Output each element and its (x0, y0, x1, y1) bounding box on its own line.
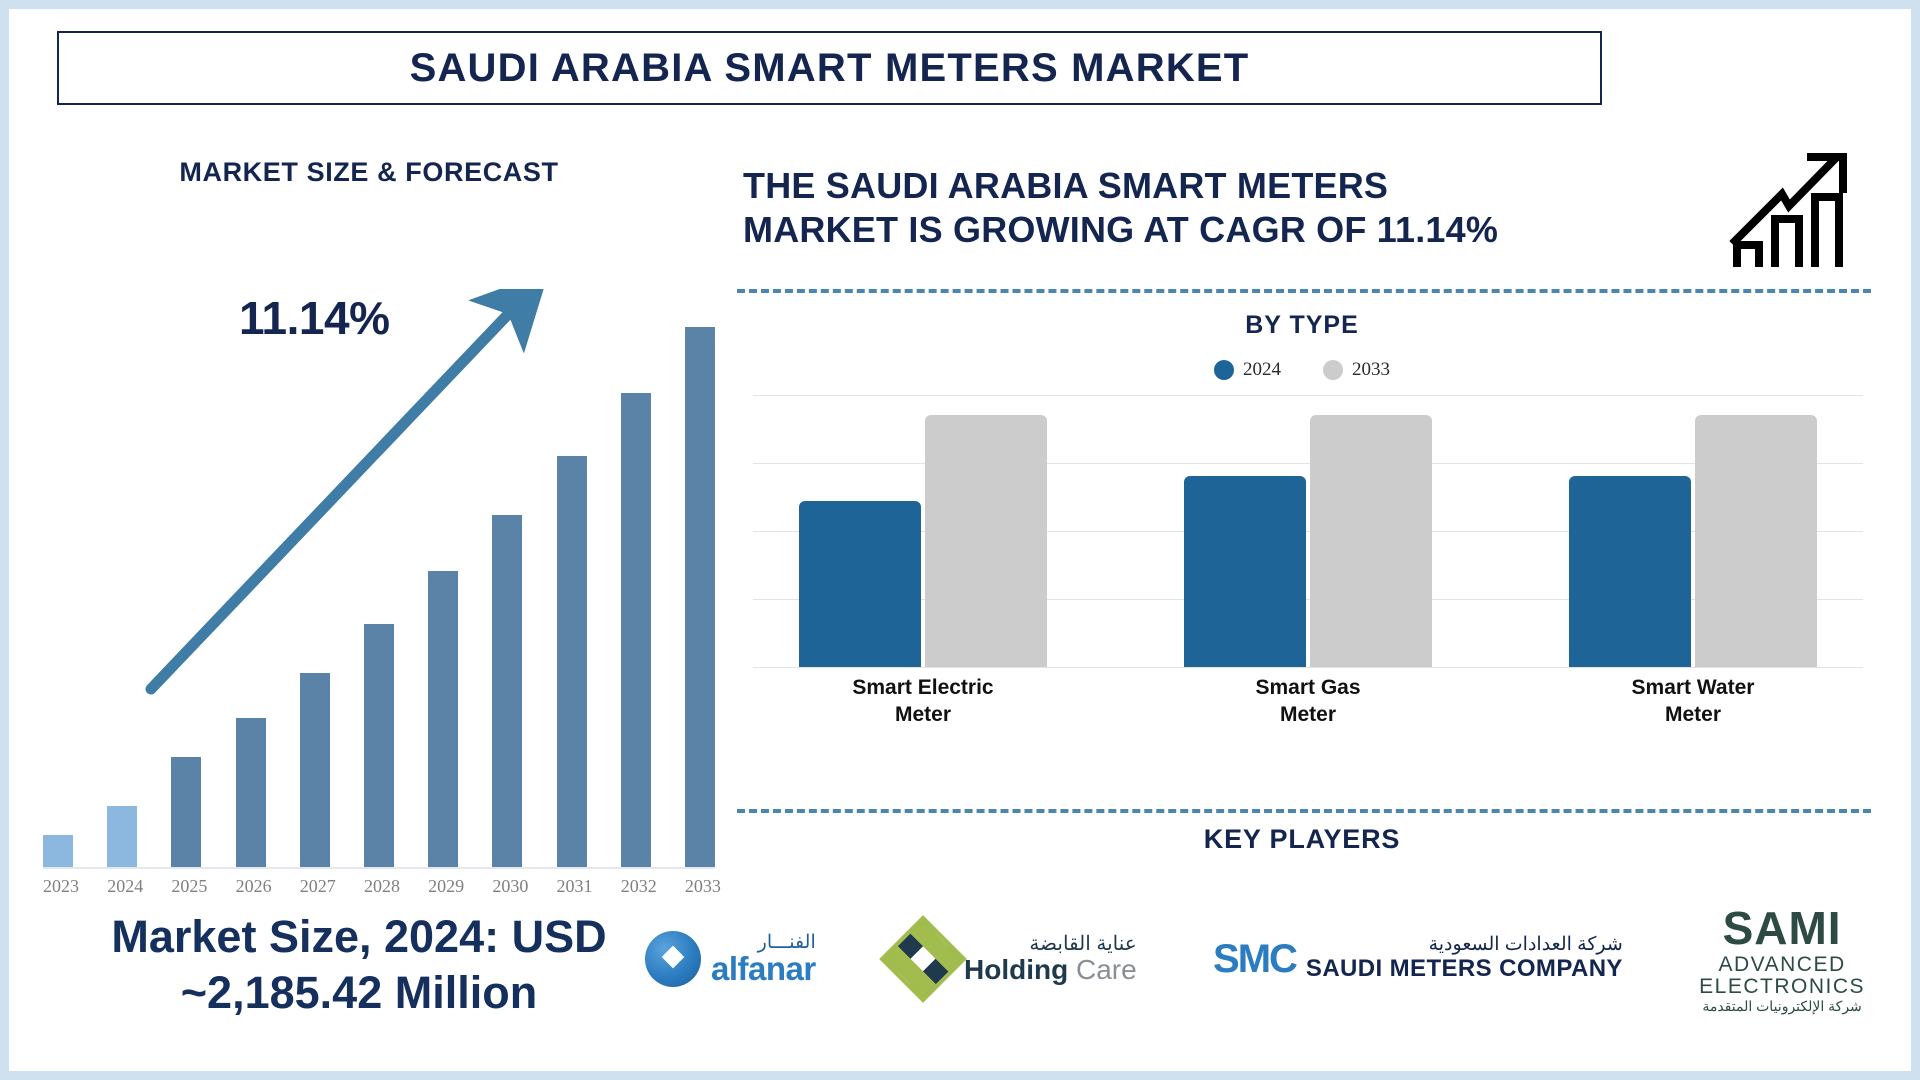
by-type-bar-2033 (1695, 415, 1817, 667)
legend-label: 2024 (1243, 359, 1281, 381)
alfanar-logo-icon (645, 931, 701, 987)
legend-label: 2033 (1352, 359, 1390, 381)
holding-care-arabic: عناية القابضة (964, 934, 1137, 955)
page-title: SAUDI ARABIA SMART METERS MARKET (410, 46, 1250, 91)
category-label-line2: Meter (1138, 702, 1478, 729)
by-type-legend: 20242033 (735, 359, 1869, 381)
market-size-year-label: 2029 (428, 876, 458, 897)
market-size-year-axis: 2023202420252026202720282029203020312032… (43, 876, 715, 897)
sami-logo-icon: SAMI (1699, 904, 1865, 954)
market-size-heading: MARKET SIZE & FORECAST (9, 157, 729, 188)
growth-headline: THE SAUDI ARABIA SMART METERS MARKET IS … (743, 164, 1683, 252)
smc-logo-icon: SMC (1213, 937, 1296, 982)
market-size-bar (236, 718, 266, 868)
holding-care-latin-bold: Holding (964, 954, 1068, 985)
market-size-bar (492, 515, 522, 867)
market-size-bar (43, 835, 73, 867)
bar-group (1523, 395, 1863, 667)
market-size-year-label: 2026 (236, 876, 266, 897)
category-label-line1: Smart Gas (1138, 675, 1478, 702)
market-size-year-label: 2028 (364, 876, 394, 897)
market-size-year-label: 2030 (492, 876, 522, 897)
by-type-bar-2024 (1184, 476, 1306, 667)
growth-headline-line1: THE SAUDI ARABIA SMART METERS (743, 164, 1683, 208)
sami-arabic: شركة الإلكترونيات المتقدمة (1699, 999, 1865, 1014)
divider-top (737, 289, 1871, 293)
by-type-bar-2033 (925, 415, 1047, 667)
smc-arabic: شركة العدادات السعودية (1306, 935, 1623, 956)
market-size-year-label: 2027 (300, 876, 330, 897)
market-size-bar (557, 456, 587, 867)
sami-line3: ELECTRONICS (1699, 976, 1865, 999)
by-type-bar-groups (753, 395, 1863, 667)
logo-smc: SMC شركة العدادات السعودية SAUDI METERS … (1213, 935, 1623, 982)
market-size-bar (428, 571, 458, 867)
by-type-bar-2033 (1310, 415, 1432, 667)
category-label-line1: Smart Water (1523, 675, 1863, 702)
market-size-bar (300, 673, 330, 867)
by-type-category-labels: Smart ElectricMeterSmart GasMeterSmart W… (753, 675, 1863, 729)
legend-item[interactable]: 2024 (1214, 359, 1281, 381)
gridline (753, 667, 1863, 668)
market-size-bar (364, 624, 394, 867)
growth-headline-line2: MARKET IS GROWING AT CAGR OF 11.14% (743, 208, 1683, 252)
bar-group (753, 395, 1093, 667)
by-type-category-label: Smart ElectricMeter (753, 675, 1093, 729)
by-type-bar-2024 (799, 501, 921, 667)
holding-care-logo-icon (879, 915, 967, 1003)
by-type-category-label: Smart WaterMeter (1523, 675, 1863, 729)
alfanar-latin: alfanar (711, 952, 816, 985)
key-players-logos: الفنـــار alfanar عناية القابضة Holding … (635, 879, 1875, 1039)
legend-dot-icon (1323, 360, 1343, 380)
market-size-bar (621, 393, 651, 867)
by-type-category-label: Smart GasMeter (1138, 675, 1478, 729)
divider-bottom (737, 809, 1871, 813)
market-size-forecast-panel: MARKET SIZE & FORECAST 11.14% 2023202420… (9, 119, 729, 1079)
logo-holding-care: عناية القابضة Holding Care (892, 928, 1137, 990)
market-size-year-label: 2025 (171, 876, 201, 897)
by-type-title: BY TYPE (735, 311, 1869, 340)
market-size-bars (43, 269, 715, 867)
bar-chart-growth-icon (1727, 149, 1867, 274)
category-label-line1: Smart Electric (753, 675, 1093, 702)
legend-dot-icon (1214, 360, 1234, 380)
key-players-title: KEY PLAYERS (735, 824, 1869, 855)
market-size-year-label: 2023 (43, 876, 73, 897)
market-size-value-line2: ~2,185.42 Million (9, 965, 709, 1021)
logo-sami: SAMI ADVANCED ELECTRONICS شركة الإلكترون… (1699, 904, 1865, 1014)
legend-item[interactable]: 2033 (1323, 359, 1390, 381)
smc-latin: SAUDI METERS COMPANY (1306, 956, 1623, 982)
category-label-line2: Meter (753, 702, 1093, 729)
market-size-value-line1: Market Size, 2024: USD (9, 909, 709, 965)
holding-care-latin-light: Care (1076, 954, 1137, 985)
chart-baseline (43, 867, 715, 869)
market-size-bar (107, 806, 137, 867)
market-detail-panel: THE SAUDI ARABIA SMART METERS MARKET IS … (735, 119, 1915, 1079)
market-size-year-label: 2031 (557, 876, 587, 897)
market-size-year-label: 2024 (107, 876, 137, 897)
market-size-bar (685, 327, 715, 867)
infographic-root: SAUDI ARABIA SMART METERS MARKET MARKET … (0, 0, 1920, 1080)
market-size-bar-chart (29, 269, 729, 869)
title-box: SAUDI ARABIA SMART METERS MARKET (57, 31, 1602, 105)
logo-alfanar: الفنـــار alfanar (645, 931, 816, 987)
bar-group (1138, 395, 1478, 667)
sami-line2: ADVANCED (1699, 954, 1865, 977)
market-size-bar (171, 757, 201, 867)
category-label-line2: Meter (1523, 702, 1863, 729)
market-size-value: Market Size, 2024: USD ~2,185.42 Million (9, 909, 709, 1021)
by-type-bar-chart (753, 395, 1863, 667)
by-type-bar-2024 (1569, 476, 1691, 667)
